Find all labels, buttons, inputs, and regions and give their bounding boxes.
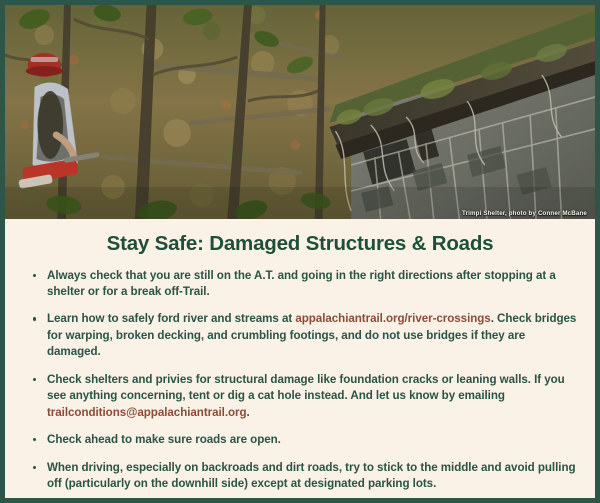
bullet-icon [33, 274, 36, 277]
bullet-icon [33, 438, 36, 441]
text-run: Check shelters and privies for structura… [47, 373, 565, 402]
text-run: Always check that you are still on the A… [47, 269, 556, 298]
bullet-stay-on-trail: Always check that you are still on the A… [21, 268, 579, 301]
text-run: Check ahead to make sure roads are open. [47, 433, 281, 446]
list-item-text: When driving, especially on backroads an… [47, 461, 576, 490]
list-item-text: Check shelters and privies for structura… [47, 373, 565, 419]
list-item-text: Always check that you are still on the A… [47, 269, 556, 298]
safety-info-card: Trimpi Shelter, photo by Conner McBane S… [0, 0, 600, 503]
bullet-icon [33, 317, 36, 320]
photo-caption: Trimpi Shelter, photo by Conner McBane [462, 210, 587, 217]
content-panel: Stay Safe: Damaged Structures & Roads Al… [5, 219, 595, 498]
list-item-text: Learn how to safely ford river and strea… [47, 312, 576, 358]
photo-image [5, 5, 595, 219]
bullet-shelters-privies: Check shelters and privies for structura… [21, 372, 579, 421]
bullet-icon [33, 378, 36, 381]
text-run: Learn how to safely ford river and strea… [47, 312, 295, 325]
bullet-icon [33, 466, 36, 469]
safety-tips-list: Always check that you are still on the A… [21, 268, 579, 493]
bullet-driving: When driving, especially on backroads an… [21, 460, 579, 493]
bullet-river-crossings: Learn how to safely ford river and strea… [21, 311, 579, 360]
bullet-roads-open: Check ahead to make sure roads are open. [21, 432, 579, 448]
list-item-text: Check ahead to make sure roads are open. [47, 433, 281, 446]
inline-link[interactable]: appalachiantrail.org/river-crossings [295, 312, 490, 325]
inline-link[interactable]: trailconditions@appalachiantrail.org [47, 406, 247, 419]
header-photo: Trimpi Shelter, photo by Conner McBane [5, 5, 595, 219]
text-run: When driving, especially on backroads an… [47, 461, 576, 490]
page-title: Stay Safe: Damaged Structures & Roads [21, 233, 579, 256]
text-run: . [247, 406, 250, 419]
